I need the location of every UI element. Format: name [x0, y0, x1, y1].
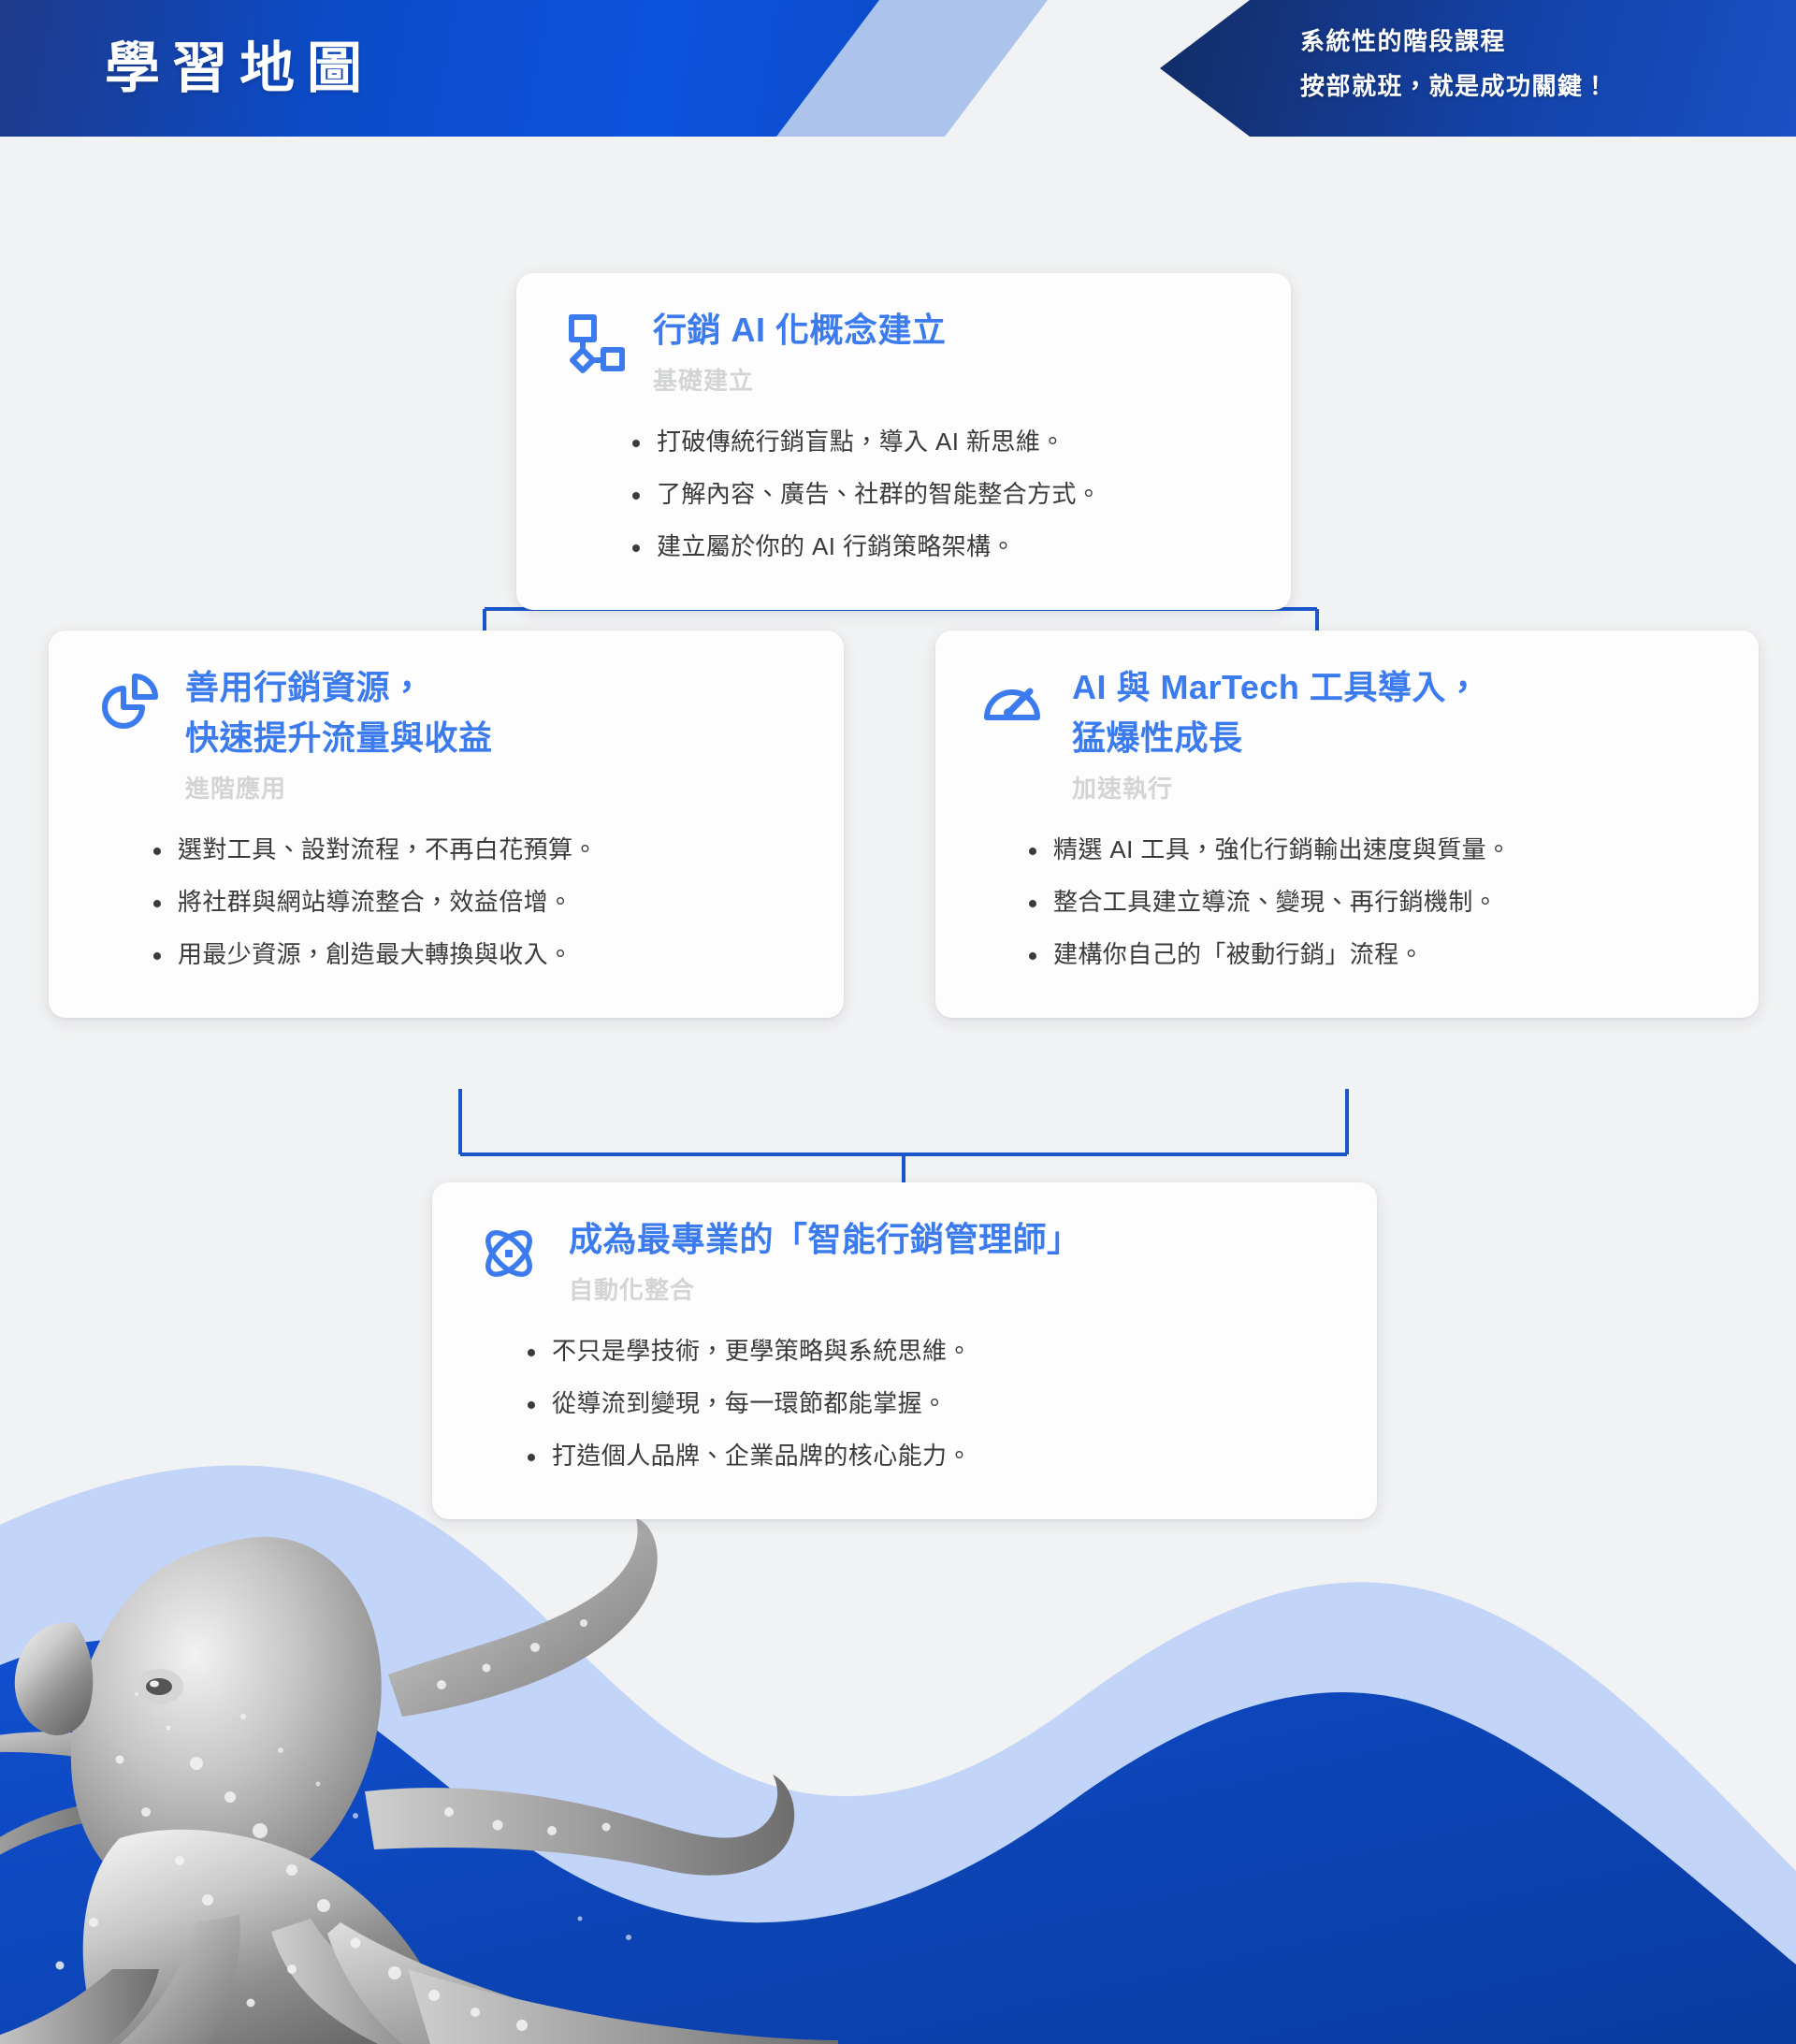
list-item: 整合工具建立導流、變現、再行銷機制。 — [1021, 876, 1717, 928]
card-bullet-list: 不只是學技術，更學策略與系統思維。 從導流到變現，每一環節都能掌握。 打造個人品… — [520, 1325, 1336, 1482]
list-item: 精選 AI 工具，強化行銷輸出速度與質量。 — [1021, 823, 1717, 876]
card-header: 行銷 AI 化概念建立 基礎建立 — [558, 305, 1250, 400]
card-subtitle: 自動化整合 — [569, 1270, 1336, 1310]
list-item: 打造個人品牌、企業品牌的核心能力。 — [520, 1429, 1336, 1482]
card-titles: 善用行銷資源， 快速提升流量與收益 進階應用 — [185, 662, 803, 808]
card-title: 善用行銷資源， 快速提升流量與收益 — [185, 662, 803, 763]
card-title: 行銷 AI 化概念建立 — [653, 305, 1250, 355]
header-tagline-line-2: 按部就班，就是成功關鍵！ — [1300, 64, 1609, 109]
page-title: 學習地圖 — [105, 19, 374, 118]
flow-chart: 行銷 AI 化概念建立 基礎建立 打破傳統行銷盲點，導入 AI 新思維。 了解內… — [0, 137, 1796, 1521]
card-subtitle: 加速執行 — [1072, 769, 1717, 808]
list-item: 打破傳統行銷盲點，導入 AI 新思維。 — [625, 415, 1250, 468]
list-item: 了解內容、廣告、社群的智能整合方式。 — [625, 468, 1250, 520]
gauge-icon — [977, 666, 1048, 737]
card-header: 善用行銷資源， 快速提升流量與收益 進階應用 — [90, 662, 803, 808]
list-item: 用最少資源，創造最大轉換與收入。 — [146, 928, 803, 980]
list-item: 建立屬於你的 AI 行銷策略架構。 — [625, 520, 1250, 573]
flow-card-advanced[interactable]: 善用行銷資源， 快速提升流量與收益 進階應用 選對工具、設對流程，不再白花預算。… — [49, 631, 844, 1018]
card-titles: AI 與 MarTech 工具導入， 猛爆性成長 加速執行 — [1072, 662, 1717, 808]
list-item: 將社群與網站導流整合，效益倍增。 — [146, 876, 803, 928]
atom-icon — [473, 1218, 544, 1289]
sitemap-icon — [558, 309, 629, 380]
card-subtitle: 基礎建立 — [653, 361, 1250, 400]
card-header: AI 與 MarTech 工具導入， 猛爆性成長 加速執行 — [977, 662, 1717, 808]
card-title: AI 與 MarTech 工具導入， 猛爆性成長 — [1072, 662, 1717, 763]
card-subtitle: 進階應用 — [185, 769, 803, 808]
header-tagline: 系統性的階段課程 按部就班，就是成功關鍵！ — [1300, 19, 1609, 109]
card-bullet-list: 精選 AI 工具，強化行銷輸出速度與質量。 整合工具建立導流、變現、再行銷機制。… — [1021, 823, 1717, 980]
flow-card-automation[interactable]: 成為最專業的「智能行銷管理師」 自動化整合 不只是學技術，更學策略與系統思維。 … — [432, 1182, 1377, 1519]
learning-map-infographic: 學習地圖 系統性的階段課程 按部就班，就是成功關鍵！ — [0, 0, 1796, 2044]
page-header: 學習地圖 系統性的階段課程 按部就班，就是成功關鍵！ — [0, 0, 1796, 137]
card-title: 成為最專業的「智能行銷管理師」 — [569, 1214, 1336, 1265]
list-item: 選對工具、設對流程，不再白花預算。 — [146, 823, 803, 876]
flow-card-acceleration[interactable]: AI 與 MarTech 工具導入， 猛爆性成長 加速執行 精選 AI 工具，強… — [935, 631, 1759, 1018]
card-titles: 行銷 AI 化概念建立 基礎建立 — [653, 305, 1250, 400]
header-tagline-line-1: 系統性的階段課程 — [1300, 19, 1609, 64]
card-header: 成為最專業的「智能行銷管理師」 自動化整合 — [473, 1214, 1336, 1310]
card-bullet-list: 選對工具、設對流程，不再白花預算。 將社群與網站導流整合，效益倍增。 用最少資源… — [146, 823, 803, 980]
card-titles: 成為最專業的「智能行銷管理師」 自動化整合 — [569, 1214, 1336, 1310]
pie-chart-icon — [90, 666, 161, 737]
list-item: 不只是學技術，更學策略與系統思維。 — [520, 1325, 1336, 1377]
flow-card-foundation[interactable]: 行銷 AI 化概念建立 基礎建立 打破傳統行銷盲點，導入 AI 新思維。 了解內… — [516, 273, 1291, 610]
card-bullet-list: 打破傳統行銷盲點，導入 AI 新思維。 了解內容、廣告、社群的智能整合方式。 建… — [625, 415, 1250, 573]
list-item: 建構你自己的「被動行銷」流程。 — [1021, 928, 1717, 980]
list-item: 從導流到變現，每一環節都能掌握。 — [520, 1377, 1336, 1429]
